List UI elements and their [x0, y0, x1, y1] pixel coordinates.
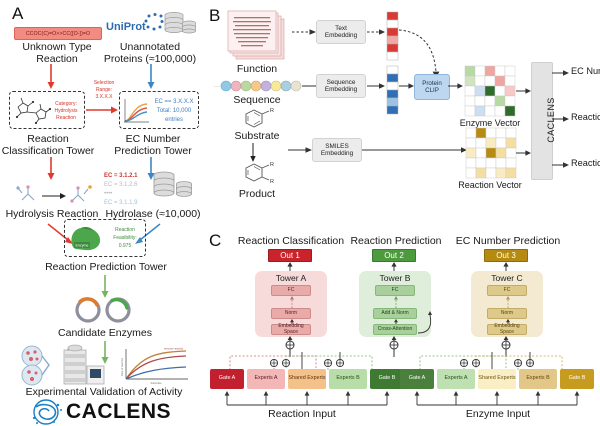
- sequence-embedding-box: Sequence Embedding: [316, 74, 366, 98]
- substrate-r-label: R: [270, 108, 274, 114]
- arrow-towerC-to-out: [499, 262, 513, 271]
- smiles-embedding-box: SMILES Embedding: [312, 138, 362, 162]
- tower-c-title: Tower C: [471, 273, 543, 283]
- tower-b-box: Tower B FC Add & Norm Cross-Attention: [359, 271, 431, 337]
- protein-clip-box: Protein CLIP: [414, 74, 450, 100]
- tower-b-block-fc: FC: [375, 285, 415, 296]
- substrate-molecule: R: [240, 108, 280, 132]
- candidate-enzymes-label: Candidate Enzymes: [34, 327, 176, 339]
- output-ec-number-label: EC Number: [571, 66, 600, 76]
- tower-a-title: Tower A: [255, 273, 327, 283]
- ec-item-0: EC = 3.1.2.1: [104, 173, 150, 180]
- ec-box-line-2: Total: 10,000: [150, 108, 198, 115]
- arrow-out-ec: [552, 68, 570, 78]
- feasibility-line-1: Reaction: [105, 227, 145, 233]
- reaction-feasibility-box: Enzyme Reaction Feasibility: 0.975: [64, 219, 146, 257]
- tower-b-title: Tower B: [359, 273, 431, 283]
- protein-clip-line-1: Protein: [422, 80, 442, 87]
- ecpt-label-1: EC Number: [104, 133, 202, 145]
- svg-text:···: ···: [214, 84, 220, 90]
- arrow-solid-smiles-emb: [288, 145, 314, 155]
- ec-prediction-box: EC == 3.X.X.X Total: 10,000 entries: [119, 91, 199, 129]
- arrow-red-down-2: [40, 157, 62, 181]
- arrow-substrate-to-product: [246, 143, 260, 163]
- enzyme-input-label: Enzyme Input: [438, 408, 558, 420]
- moe-left-experts-a[interactable]: Experts A: [247, 369, 285, 389]
- uniprot-logo-group: UniProt: [104, 10, 196, 40]
- panel-a-letter: A: [12, 4, 23, 24]
- plot-xlabel: Substrate: [150, 381, 162, 385]
- tower-a-box: Tower A FC Norm Embedding Space: [255, 271, 327, 337]
- panel-b-letter: B: [209, 6, 220, 26]
- moe-left-experts-b[interactable]: Experts B: [329, 369, 367, 389]
- ecpt-label-2: Prediction Tower: [104, 145, 202, 157]
- tower-b-residual-curve: [416, 307, 434, 335]
- out-3-badge: Out 3: [484, 249, 528, 262]
- arrow-reactionvec-to-caclens: [516, 148, 532, 158]
- tower-c-block-embedding: Embedding Space: [487, 324, 527, 335]
- enzyme-chip-text: Enzyme: [76, 244, 89, 248]
- ec-box-line-1: EC == 3.X.X.X: [150, 99, 198, 106]
- moe-right-group: Gate A Experts A Shared Experts Experts …: [400, 369, 582, 389]
- moe-left-group: Gate A Experts A Shared Experts Experts …: [210, 369, 392, 389]
- moe-right-experts-a[interactable]: Experts A: [437, 369, 475, 389]
- tower-a-block-embedding: Embedding Space: [271, 324, 311, 335]
- arrow-dashed-text-emb: [292, 27, 318, 37]
- moe-right-gate-b[interactable]: Gate B: [560, 369, 594, 389]
- database-stack-icon: [150, 170, 196, 206]
- protein-clip-line-2: CLIP: [425, 87, 439, 94]
- panelc-title-2: EC Number Prediction: [448, 235, 568, 247]
- smiles-embedding-line-2: Embedding: [321, 150, 353, 157]
- category-label-3: Reaction: [48, 115, 84, 121]
- plot-annotation: enzyme activity: [164, 347, 184, 351]
- sequence-embedding-line-2: Embedding: [325, 86, 357, 93]
- panelc-title-0: Reaction Classification: [236, 235, 346, 247]
- text-embedding-line-2: Embedding: [325, 32, 357, 39]
- sequence-beads: ··· ···: [214, 79, 300, 93]
- arrow-red-right-1: [86, 103, 120, 117]
- arrow-towerA-to-out: [283, 262, 297, 271]
- moe-right-shared-experts[interactable]: Shared Experts: [478, 369, 516, 389]
- arrow-dashed-to-textvec: [367, 27, 387, 37]
- panelc-title-1: Reaction Prediction: [344, 235, 448, 247]
- text-embedding-line-1: Text: [335, 25, 347, 32]
- product-r-label-2: R: [270, 179, 274, 185]
- arrow-out-category: [552, 160, 570, 170]
- panel-c-letter: C: [209, 231, 221, 251]
- plot-ylabel: Rate of reaction: [120, 357, 124, 376]
- candidate-plasmids-icon: [70, 296, 140, 324]
- reaction-input-label: Reaction Input: [242, 408, 362, 420]
- tower-b-block-addnorm: Add & Norm: [373, 308, 417, 319]
- tower-a-block-norm: Norm: [271, 308, 311, 319]
- ec-box-line-3: entries: [150, 117, 198, 124]
- tower-c-block-norm: Norm: [487, 308, 527, 319]
- moe-right-input-bus: [400, 389, 596, 407]
- feasibility-line-3: 0.975: [105, 243, 145, 249]
- moe-left-input-bus: [210, 389, 406, 407]
- moe-left-shared-experts[interactable]: Shared Experts: [288, 369, 326, 389]
- output-feasibility-label: Reaction Feasibility: [571, 112, 600, 122]
- reaction-vector-grid: [466, 128, 516, 178]
- unknown-reaction-label-1: Unknown Type: [6, 41, 108, 53]
- selection-range-1: Selection: [86, 80, 122, 86]
- tower-c-connector-1: [503, 296, 513, 308]
- arrow-blue-down-1: [140, 64, 162, 90]
- product-r-label-1: R: [270, 162, 274, 168]
- moe-left-gate-b[interactable]: Gate B: [370, 369, 404, 389]
- reaction-classification-box: Category: Hydrolysis Reaction: [9, 91, 85, 129]
- product-molecule: R R: [240, 161, 280, 187]
- moe-right-gate-a[interactable]: Gate A: [400, 369, 434, 389]
- moe-right-experts-b[interactable]: Experts B: [519, 369, 557, 389]
- function-label: Function: [222, 63, 292, 75]
- out-1-badge: Out 1: [268, 249, 312, 262]
- arrow-solid-to-seqvec: [367, 81, 387, 91]
- function-document-stack: [228, 11, 288, 63]
- hplc-instrument-icon: [58, 340, 112, 388]
- tower-b-block-crossattention: Cross-Attention: [373, 324, 417, 335]
- experimental-validation-label: Experimental Validation of Activity: [6, 386, 202, 398]
- reaction-prediction-tower-label: Reaction Prediction Tower: [32, 261, 180, 273]
- caclens-brand-text: CACLENS: [66, 400, 171, 424]
- ec-item-1: EC = 3.1.2.6: [104, 182, 150, 189]
- tower-c-block-fc: FC: [487, 285, 527, 296]
- arrow-red-down-1: [40, 64, 62, 90]
- text-embedding-box: Text Embedding: [316, 20, 366, 44]
- petri-dish-icon: [20, 345, 52, 387]
- caclens-brand-logo: [28, 399, 64, 425]
- sequence-embedding-line-1: Sequence: [327, 79, 356, 86]
- arrow-enzymevec-to-caclens: [516, 86, 532, 96]
- arrow-seqvec-to-clip: [399, 81, 415, 91]
- output-category-label: Reaction Category: [571, 158, 600, 168]
- sequence-label: Sequence: [222, 94, 292, 106]
- feasibility-line-2: Feasibility:: [105, 235, 145, 241]
- reaction-vector-label: Reaction Vector: [453, 180, 527, 191]
- ec-item-3: EC = 3.1.1.9: [104, 200, 150, 207]
- enzyme-vector-label: Enzyme Vector: [453, 118, 527, 129]
- hydrolysis-reaction-scheme: [12, 180, 102, 210]
- line-smiles-to-reaction-vector: [362, 145, 468, 155]
- arrow-towerB-to-out: [387, 262, 401, 271]
- arrow-clip-to-enzyme-vector: [448, 81, 464, 91]
- selection-range-2: Range:: [86, 87, 122, 93]
- enzyme-vector-grid: [465, 66, 515, 116]
- substrate-label: Substrate: [222, 130, 292, 142]
- smiles-embedding-line-1: SMILES: [325, 143, 348, 150]
- tower-a-connector-1: [287, 296, 297, 308]
- selection-range-3: 3.X.X.X: [86, 94, 122, 100]
- kinetics-plot: enzyme activity Rate of reaction Substra…: [118, 345, 192, 387]
- tower-b-connector-1: [391, 296, 401, 308]
- enzyme-blob-icon: Enzyme: [69, 225, 103, 253]
- ec-item-2: ••••: [104, 191, 150, 198]
- rct-label-2: Classification Tower: [0, 145, 96, 157]
- out-2-badge: Out 2: [372, 249, 416, 262]
- uniprot-logo-text: UniProt: [106, 21, 146, 33]
- category-label-1: Category:: [48, 101, 84, 107]
- rct-label-1: Reaction: [0, 133, 96, 145]
- tower-a-block-fc: FC: [271, 285, 311, 296]
- ec-result-list: EC = 3.1.2.1 EC = 3.1.2.6 •••• EC = 3.1.…: [104, 173, 150, 207]
- smiles-string-box: CCOC(C)=O>>CC([O-])=O: [14, 27, 102, 40]
- arrow-out-feasibility: [552, 114, 570, 124]
- moe-left-gate-a[interactable]: Gate A: [210, 369, 244, 389]
- category-label-2: Hydrolysis: [48, 108, 84, 114]
- tower-c-box: Tower C FC Norm Embedding Space: [471, 271, 543, 337]
- unannotated-label-1: Unannotated: [100, 41, 200, 53]
- product-label: Product: [222, 188, 292, 200]
